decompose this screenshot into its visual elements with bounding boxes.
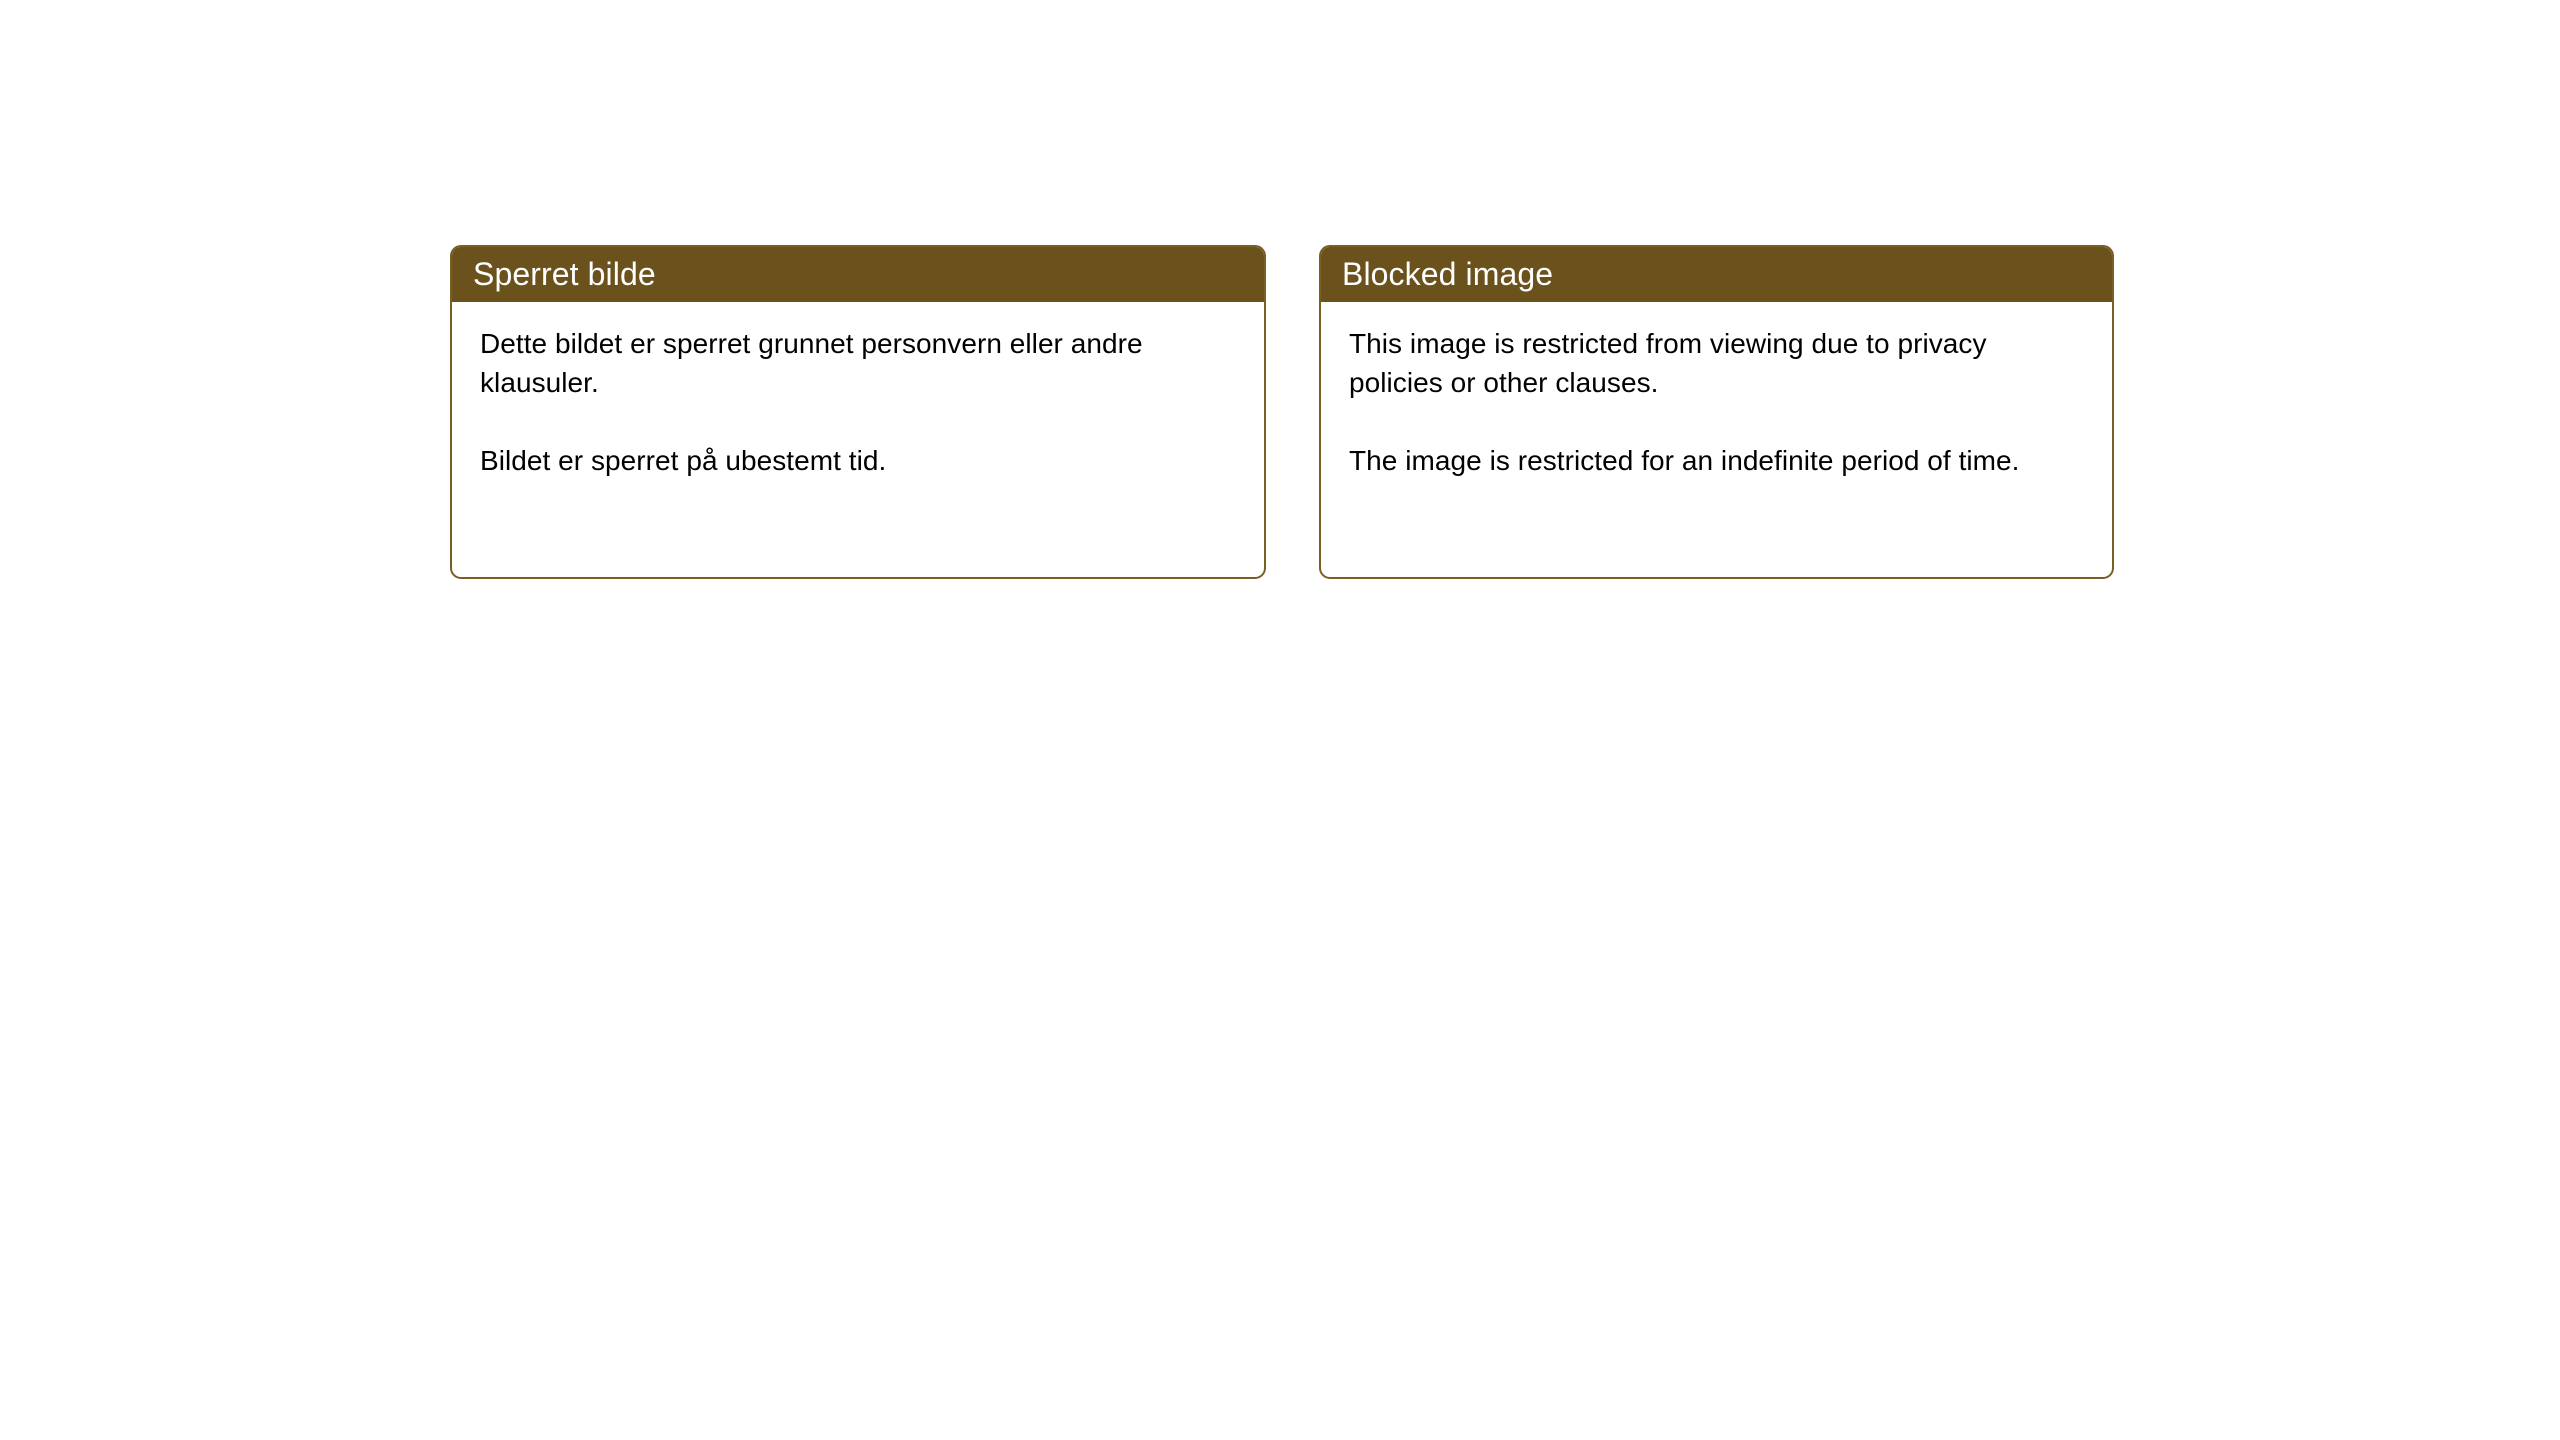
card-paragraph-duration-norwegian: Bildet er sperret på ubestemt tid. [480, 441, 1240, 480]
blocked-image-card-norwegian: Sperret bilde Dette bildet er sperret gr… [450, 245, 1266, 579]
card-body-norwegian: Dette bildet er sperret grunnet personve… [452, 302, 1264, 577]
card-title-norwegian: Sperret bilde [473, 256, 656, 292]
card-header-english: Blocked image [1319, 245, 2114, 302]
card-paragraph-duration-english: The image is restricted for an indefinit… [1349, 441, 2088, 480]
card-body-english: This image is restricted from viewing du… [1321, 302, 2112, 577]
card-title-english: Blocked image [1342, 256, 1553, 292]
blocked-image-card-english: Blocked image This image is restricted f… [1319, 245, 2114, 579]
card-paragraph-reason-english: This image is restricted from viewing du… [1349, 324, 2088, 402]
blocked-image-notice-group: Sperret bilde Dette bildet er sperret gr… [450, 245, 2114, 579]
page-root: Sperret bilde Dette bildet er sperret gr… [0, 0, 2560, 1440]
card-header-norwegian: Sperret bilde [450, 245, 1266, 302]
card-paragraph-reason-norwegian: Dette bildet er sperret grunnet personve… [480, 324, 1240, 402]
